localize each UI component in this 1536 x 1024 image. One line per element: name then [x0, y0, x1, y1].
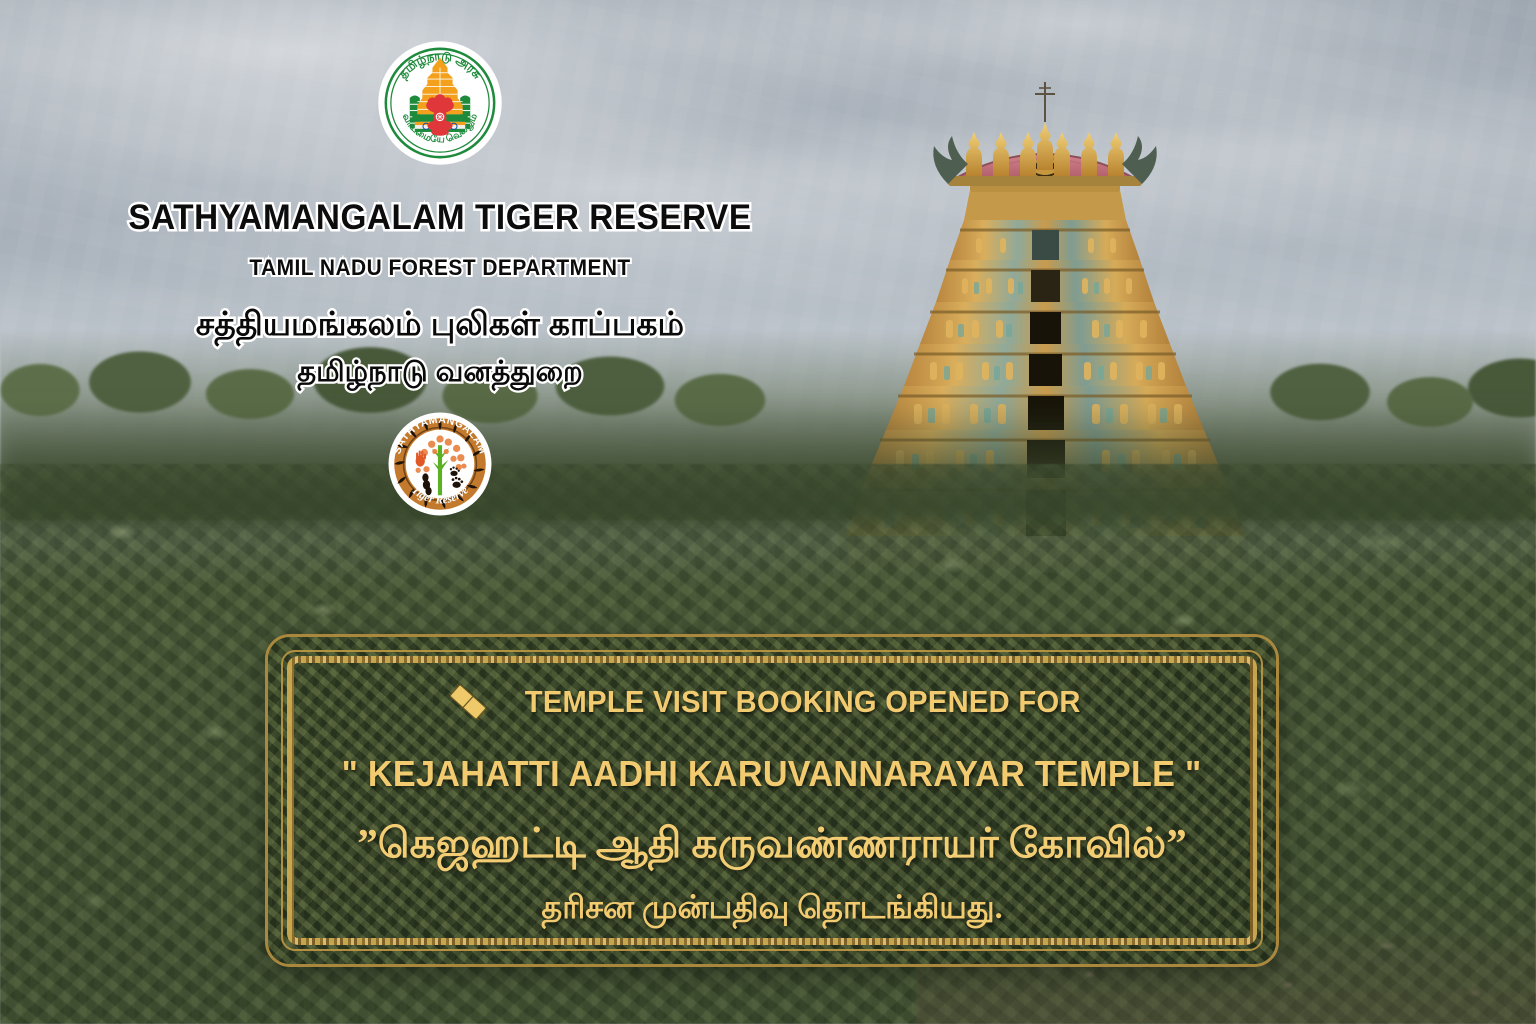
department-label-tamil: தமிழ்நாடு வனத்துறை — [0, 354, 880, 390]
banner-headline-row: TEMPLE VISIT BOOKING OPENED FOR — [445, 679, 1098, 725]
temple-name-english: " KEJAHATTI AADHI KARUVANNARAYAR TEMPLE … — [342, 753, 1202, 795]
poster-root: தமிழ்நாடு அரசு வாய்மையே வெல்லும் — [0, 0, 1536, 1024]
announcement-banner: TEMPLE VISIT BOOKING OPENED FOR " KEJAHA… — [268, 637, 1276, 964]
tamil-nadu-state-emblem-icon: தமிழ்நாடு அரசு வாய்மையே வெல்லும் — [377, 40, 503, 166]
banner-headline: TEMPLE VISIT BOOKING OPENED FOR — [525, 684, 1081, 720]
booking-note-tamil: தரிசன முன்பதிவு தொடங்கியது. — [541, 888, 1002, 926]
department-label: TAMIL NADU FOREST DEPARTMENT — [22, 255, 858, 281]
poster-header: தமிழ்நாடு அரசு வாய்மையே வெல்லும் — [0, 40, 880, 516]
temple-name-tamil: ”கெஜஹட்டி ஆதி கருவண்ணராயர் கோவில்” — [357, 819, 1186, 868]
sathyamangalam-tiger-reserve-logo-icon: SATHYAMANGALAM Tiger Reserve — [388, 412, 492, 516]
page-title-tamil: சத்தியமங்கலம் புலிகள் காப்பகம் — [0, 303, 880, 344]
page-title: SATHYAMANGALAM TIGER RESERVE — [22, 200, 858, 237]
ticket-icon — [445, 679, 491, 725]
